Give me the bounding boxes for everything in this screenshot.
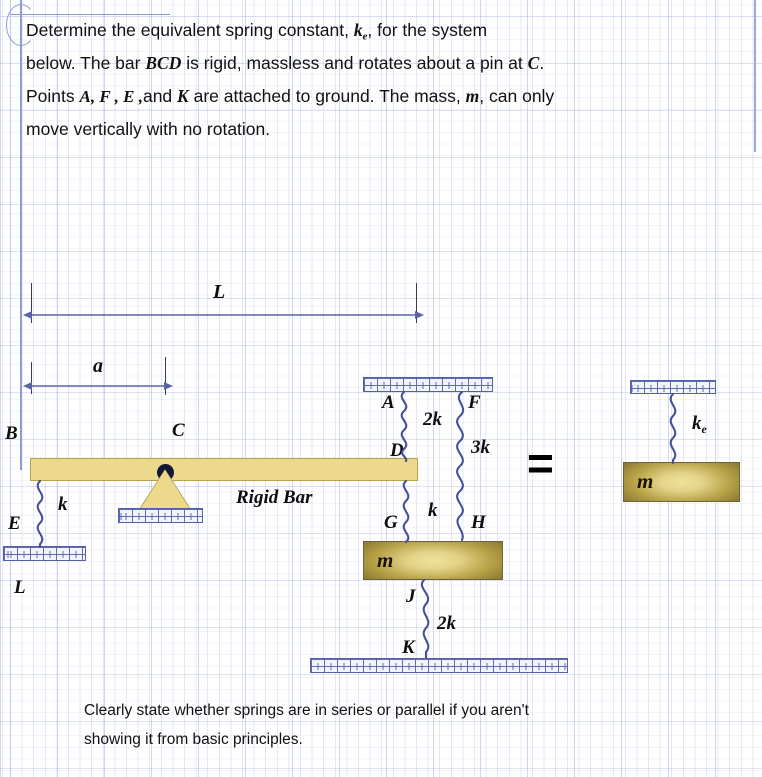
point-label-J: J [406,586,416,608]
point-c-symbol: C [528,53,540,73]
prompt-line-1-text-b: , for the system [367,20,487,40]
ke-equivalent-subscript: e [702,423,707,436]
prompt-line-3: Points A, F , E ,and K are attached to g… [26,80,554,113]
spring-coil-FH [457,392,463,540]
prompt-line-3-text-a: Points [26,86,80,106]
mass-m-symbol: m [466,86,480,106]
mass-block-equivalent: m [623,462,740,502]
spring-coil-BE [38,481,43,547]
points-afe-symbols: A, F , E , [80,87,143,106]
ground-hatch-support-C [118,508,203,523]
spring-label-2k-AD: 2k [423,409,442,431]
prompt-line-1-text-a: Determine the equivalent spring constant… [26,20,354,40]
spring-label-2k-JK: 2k [437,613,456,635]
ground-hatch-K [310,658,568,673]
footer-line-2: showing it from basic principles. [84,725,303,754]
dim-extension-left-a [31,362,32,394]
dim-extension-right-L [416,283,417,323]
spring-label-3k-FH: 3k [471,437,490,459]
mass-block-equivalent-label: m [637,469,653,494]
notebook-page: Determine the equivalent spring constant… [0,0,762,777]
prompt-line-2-text-a: below. The bar [26,53,145,73]
point-label-D: D [390,440,404,462]
prompt-line-3-and: and [143,86,177,106]
bar-bcd-symbol: BCD [145,53,181,73]
left-margin-rule [20,0,22,470]
spring-coil-ke [671,394,676,463]
ground-hatch-E [3,546,86,561]
spring-coil-DG [404,481,409,542]
dim-extension-left-L [31,283,32,323]
prompt-line-3-text-b: are attached to ground. The mass, [189,86,466,106]
ke-equivalent-base: k [692,413,702,434]
spring-label-k-DG: k [428,500,438,522]
prompt-line-4: move vertically with no rotation. [26,113,270,146]
ground-hatch-equivalent [630,380,716,394]
mass-block-left-label: m [377,548,393,573]
prompt-line-2: below. The bar BCD is rigid, massless an… [26,47,544,80]
right-margin-rule [754,0,756,152]
prompt-line-2-period: . [539,53,544,73]
point-label-K: K [402,637,415,659]
dim-extension-right-a [165,357,166,395]
rigid-bar-label: Rigid Bar [236,487,313,509]
point-label-G: G [384,512,398,534]
point-label-B: B [5,423,18,445]
prompt-ke-symbol: ke [354,20,368,40]
point-label-E: E [8,513,21,535]
footer-line-1: Clearly state whether springs are in ser… [84,696,529,725]
point-label-C: C [172,420,185,442]
prompt-line-2-text-b: is rigid, massless and rotates about a p… [181,53,527,73]
rigid-bar-BCD [30,458,418,481]
spring-label-k-BE: k [58,494,68,516]
prompt-line-3-text-c: , can only [479,86,554,106]
point-label-A: A [382,392,395,414]
ke-base: k [354,20,363,40]
point-label-L-bottom: L [14,577,26,599]
dimension-label-a: a [93,355,103,378]
spring-coil-JK [422,580,428,658]
point-label-F: F [468,392,481,414]
spring-label-ke: ke [692,413,707,437]
point-label-H: H [471,512,486,534]
point-k-symbol: K [177,86,189,106]
mass-block-left: m [363,541,503,580]
ground-hatch-AF [363,377,493,392]
equals-sign: = [527,440,554,486]
dimension-label-L: L [213,281,225,304]
